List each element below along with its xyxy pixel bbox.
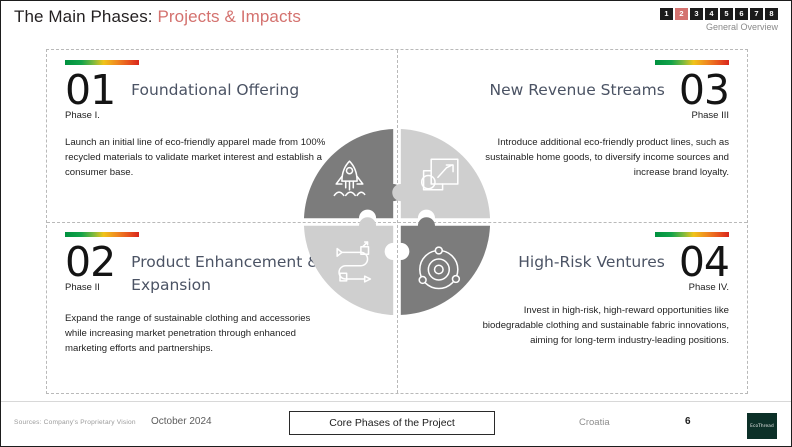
puzzle-piece-bottom-right [401,217,490,315]
quadrant-number-block: 01 Phase I. [65,71,115,121]
pager-item-8[interactable]: 8 [765,8,778,20]
phase-title: Foundational Offering [131,71,379,102]
phase-number: 03 [679,71,729,109]
pager-item-6[interactable]: 6 [735,8,748,20]
slide-footer: Sources: Company's Proprietary Vision Oc… [1,401,791,446]
phase-number: 02 [65,243,115,281]
accent-bar-icon [65,60,139,65]
brand-logo-text: EcoThread [750,424,774,429]
footer-location: Croatia [579,417,610,428]
phase-number: 04 [679,243,729,281]
phase-number: 01 [65,71,115,109]
phase-title: New Revenue Streams [415,71,665,102]
pager-item-1[interactable]: 1 [660,8,673,20]
quadrant-number-block: 02 Phase II [65,243,115,293]
page-title-accent: Projects & Impacts [157,7,301,26]
page-title: The Main Phases: Projects & Impacts [14,7,301,27]
slide-header: The Main Phases: Projects & Impacts 1234… [1,1,791,34]
pager-item-3[interactable]: 3 [690,8,703,20]
puzzle-svg [302,127,492,317]
accent-bar-icon [65,232,139,237]
content-frame: 01 Phase I. Foundational Offering Launch… [46,49,748,394]
pager-item-2[interactable]: 2 [675,8,688,20]
pager-item-7[interactable]: 7 [750,8,763,20]
pager-label: General Overview [706,22,778,32]
footer-date: October 2024 [151,416,212,427]
puzzle-piece-top-left [304,128,402,217]
quadrant-head: 03 Phase III New Revenue Streams [415,71,729,121]
footer-sources: Sources: Company's Proprietary Vision [14,419,136,426]
slide-canvas: The Main Phases: Projects & Impacts 1234… [0,0,792,447]
pager-item-4[interactable]: 4 [705,8,718,20]
phase-description: Launch an initial line of eco-friendly a… [65,135,333,180]
pager-item-5[interactable]: 5 [720,8,733,20]
phase-description: Expand the range of sustainable clothing… [65,311,333,356]
accent-bar-icon [655,232,729,237]
phase-description: Invest in high-risk, high-reward opportu… [461,303,729,348]
quadrant-head: 01 Phase I. Foundational Offering [65,71,379,121]
phase-description: Introduce additional eco-friendly produc… [461,135,729,180]
section-pager[interactable]: 12345678 [660,8,778,20]
page-title-primary: The Main Phases: [14,7,153,26]
accent-bar-icon [655,60,729,65]
quadrant-number-block: 03 Phase III [679,71,729,121]
quadrant-number-block: 04 Phase IV. [679,243,729,293]
footer-page-number: 6 [685,416,691,427]
puzzle-diagram [302,127,492,317]
brand-logo: EcoThread [747,413,777,439]
footer-caption: Core Phases of the Project [289,411,495,435]
